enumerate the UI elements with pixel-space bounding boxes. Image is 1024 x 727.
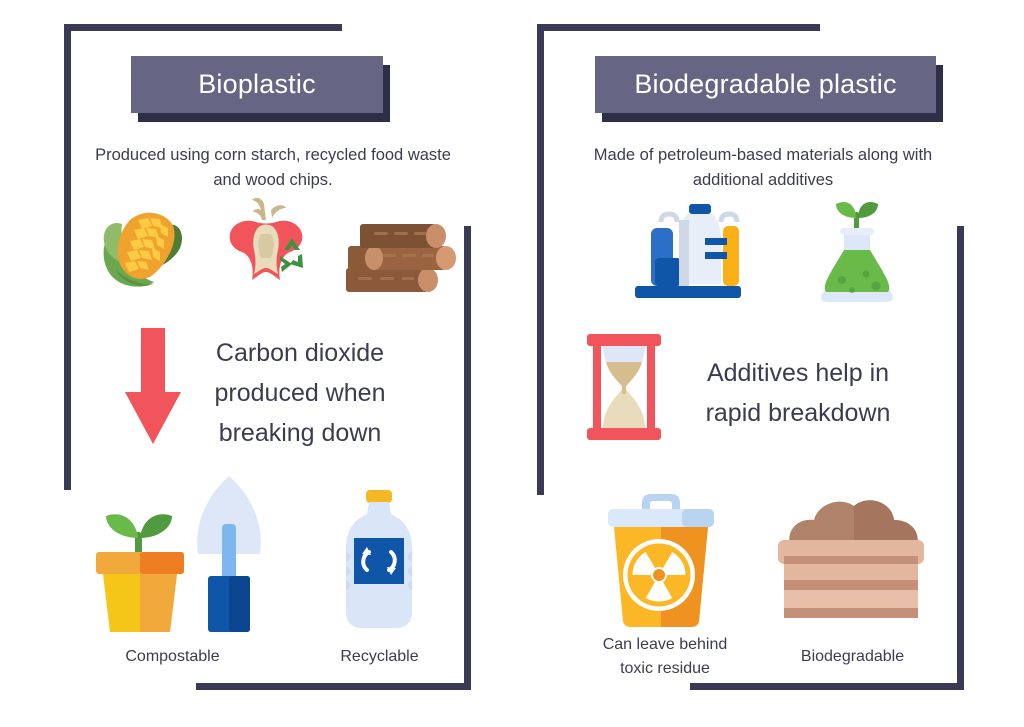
frame-bottom-right-horizontal-right [690,683,964,690]
potted-plant-icon [90,492,190,632]
frame-top-left-vertical [64,24,71,490]
caption-line-2: toxic residue [570,657,760,681]
frame-bottom-right-vertical-right [957,226,964,690]
statement-text-bioplastic: Carbon dioxide produced when breaking do… [180,333,420,453]
frame-top-left-vertical-right [537,24,544,495]
title-plate-bioplastic: Bioplastic [131,56,383,113]
wood-logs-icon [342,216,454,296]
panel-title-bioplastic: Bioplastic [198,69,316,100]
panel-subtitle-biodegradable: Made of petroleum-based materials along … [578,143,948,193]
trowel-icon [190,476,268,632]
outcome-caption-toxic-residue: Can leave behind toxic residue [570,633,760,681]
outcome-caption-biodegradable: Biodegradable [760,645,945,669]
recyclable-bottle-icon [338,490,420,630]
infographic-canvas: Bioplastic Produced using corn starch, r… [0,0,1024,727]
caption-line-1: Can leave behind [570,633,760,657]
statement-text-biodegradable: Additives help in rapid breakdown [670,353,926,433]
statement-line-3: breaking down [180,413,420,453]
apple-core-recycle-icon [218,196,314,298]
title-plate-face: Bioplastic [131,56,383,113]
red-down-arrow-icon [123,328,183,448]
hourglass-icon [587,334,661,440]
frame-top-left-horizontal [64,24,342,31]
toxic-waste-bin-icon [590,487,732,627]
frame-bottom-right-vertical [464,226,471,690]
corn-icon [92,198,192,298]
outcome-caption-compostable: Compostable [80,645,265,669]
title-plate-face-right: Biodegradable plastic [595,56,936,113]
panel-title-biodegradable: Biodegradable plastic [634,69,896,100]
statement-line-1: Carbon dioxide [180,333,420,373]
panel-subtitle-bioplastic: Produced using corn starch, recycled foo… [88,143,458,193]
compost-heap-icon [772,494,930,620]
oil-refinery-icon [625,202,741,300]
outcome-caption-recyclable: Recyclable [292,645,467,669]
frame-bottom-right-horizontal [196,683,471,690]
green-flask-icon [810,198,906,302]
statement-line-2: produced when [180,373,420,413]
statement-line-1-right: Additives help in [670,353,926,393]
title-plate-biodegradable: Biodegradable plastic [595,56,936,113]
statement-line-2-right: rapid breakdown [670,393,926,433]
frame-top-left-horizontal-right [537,24,820,31]
